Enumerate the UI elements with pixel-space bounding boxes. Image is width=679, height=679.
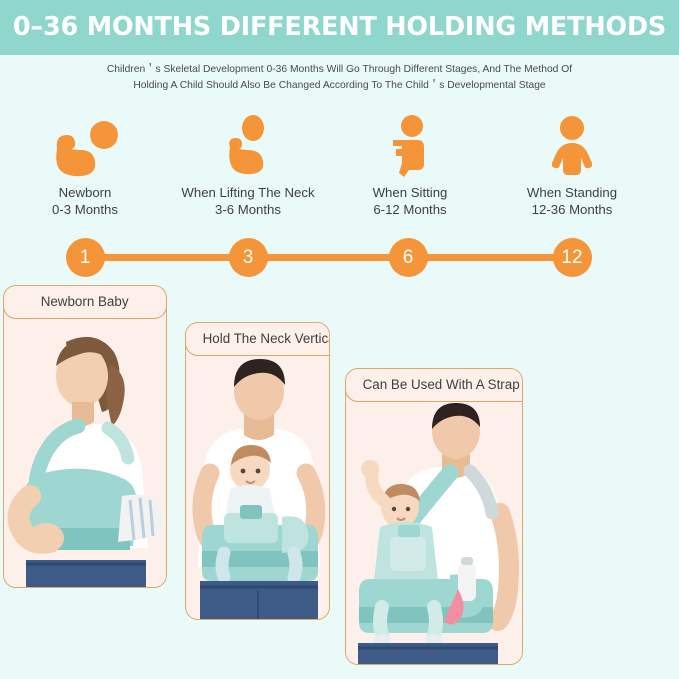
timeline: 1 3 6 12 bbox=[0, 238, 679, 278]
stage-label: When Standing bbox=[492, 184, 652, 201]
stage-label: When Lifting The Neck bbox=[168, 184, 328, 201]
card-caption: Newborn Baby bbox=[3, 285, 167, 319]
subtitle: Children＇s Skeletal Development 0-36 Mon… bbox=[0, 62, 679, 94]
baby-sitting-icon bbox=[330, 115, 490, 177]
timeline-node-6[interactable]: 6 bbox=[389, 238, 428, 277]
card-photo bbox=[186, 357, 329, 619]
stage-sitting: When Sitting 6-12 Months bbox=[330, 115, 490, 218]
stage-label: Newborn bbox=[5, 184, 165, 201]
card-caption: Can Be Used With A Strap After 6 Months bbox=[345, 368, 523, 402]
father-holding-baby-upright-illustration bbox=[186, 357, 329, 619]
timeline-node-1[interactable]: 1 bbox=[66, 238, 105, 277]
stage-range: 12-36 Months bbox=[492, 201, 652, 218]
subtitle-line-1: Children＇s Skeletal Development 0-36 Mon… bbox=[0, 62, 679, 78]
baby-standing-icon bbox=[492, 115, 652, 177]
baby-lying-icon bbox=[5, 115, 165, 177]
timeline-node-3[interactable]: 3 bbox=[229, 238, 268, 277]
photo-card-strap-after-6-months[interactable]: Can Be Used With A Strap After 6 Months bbox=[345, 368, 523, 665]
stage-label: When Sitting bbox=[330, 184, 490, 201]
photo-card-hold-neck-vertically[interactable]: Hold The Neck Vertically (3-6 Months) bbox=[185, 322, 330, 620]
father-carrying-baby-with-strap-illustration bbox=[346, 403, 522, 664]
stage-range: 6-12 Months bbox=[330, 201, 490, 218]
mother-cradling-newborn-illustration bbox=[4, 320, 166, 587]
subtitle-line-2: Holding A Child Should Also Be Changed A… bbox=[0, 78, 679, 94]
stage-standing: When Standing 12-36 Months bbox=[492, 115, 652, 218]
stage-range: 0-3 Months bbox=[5, 201, 165, 218]
page-title: 0–36 MONTHS DIFFERENT HOLDING METHODS bbox=[13, 15, 666, 41]
timeline-bar bbox=[85, 254, 572, 261]
card-photo bbox=[4, 320, 166, 587]
stages-row: Newborn 0-3 Months When Lifting The Neck… bbox=[0, 115, 679, 225]
card-caption: Hold The Neck Vertically (3-6 Months) bbox=[185, 322, 330, 356]
photo-card-newborn[interactable]: Newborn Baby bbox=[3, 285, 167, 588]
header-band: 0–36 MONTHS DIFFERENT HOLDING METHODS bbox=[0, 0, 679, 55]
stage-range: 3-6 Months bbox=[168, 201, 328, 218]
baby-head-up-icon bbox=[168, 115, 328, 177]
stage-lifting-neck: When Lifting The Neck 3-6 Months bbox=[168, 115, 328, 218]
card-photo bbox=[346, 403, 522, 664]
stage-newborn: Newborn 0-3 Months bbox=[5, 115, 165, 218]
timeline-node-12[interactable]: 12 bbox=[553, 238, 592, 277]
